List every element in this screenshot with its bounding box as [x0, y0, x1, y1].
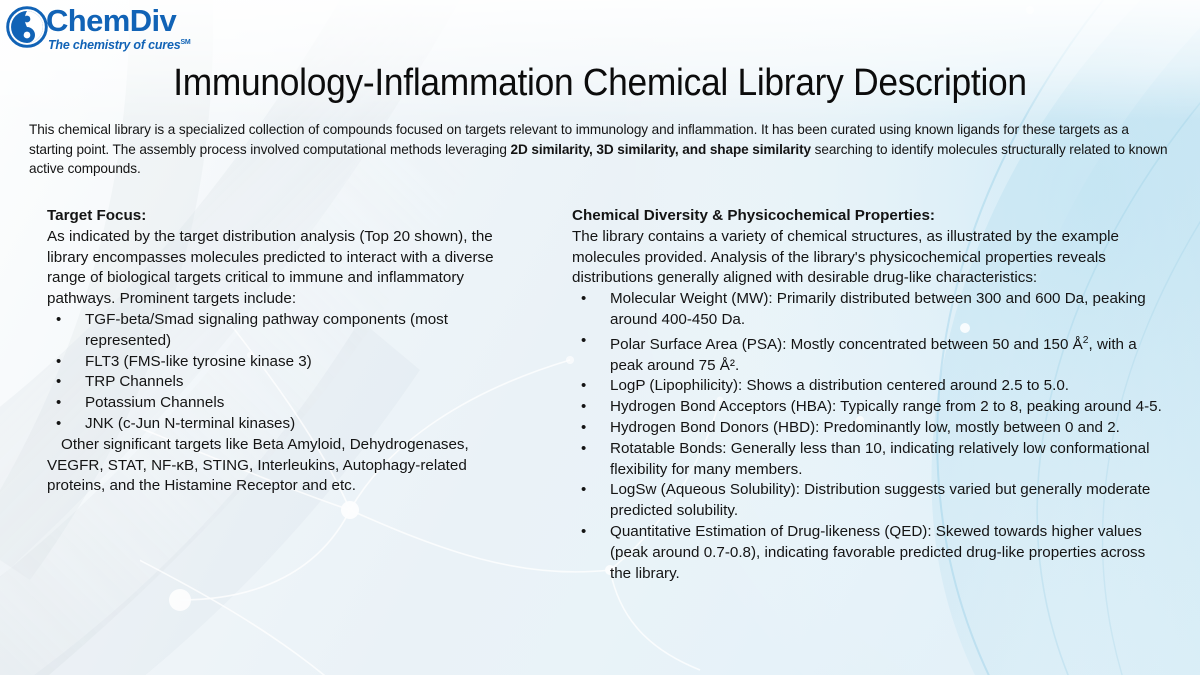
brand-name: ChemDiv	[46, 4, 176, 38]
bullet-text: Quantitative Estimation of Drug-likeness…	[610, 523, 1145, 582]
list-item: LogP (Lipophilicity): Shows a distributi…	[572, 376, 1168, 397]
list-item: TGF-beta/Smad signaling pathway componen…	[47, 310, 525, 352]
bullet-text: Molecular Weight (MW): Primarily distrib…	[610, 290, 1146, 328]
target-focus-column: Target Focus: As indicated by the target…	[47, 206, 525, 497]
brand-tagline: The chemistry of curesSM	[48, 38, 191, 52]
list-item: Polar Surface Area (PSA): Mostly concent…	[572, 331, 1168, 377]
bullet-text: Rotatable Bonds: Generally less than 10,…	[610, 440, 1149, 478]
bullet-text: Polar Surface Area (PSA): Mostly concent…	[610, 336, 1083, 353]
list-item: FLT3 (FMS-like tyrosine kinase 3)	[47, 352, 525, 373]
intro-bold-phrase: 2D similarity, 3D similarity, and shape …	[511, 142, 811, 157]
chemical-diversity-paragraph: The library contains a variety of chemic…	[572, 227, 1168, 289]
chemdiv-circle-logo-icon	[6, 6, 48, 48]
bullet-text: Hydrogen Bond Acceptors (HBA): Typically…	[610, 398, 1162, 415]
list-item: Quantitative Estimation of Drug-likeness…	[572, 522, 1168, 584]
list-item: Molecular Weight (MW): Primarily distrib…	[572, 289, 1168, 331]
bullet-text: TRP Channels	[85, 373, 184, 390]
list-item: TRP Channels	[47, 372, 525, 393]
physicochemical-bullet-list: Molecular Weight (MW): Primarily distrib…	[572, 289, 1168, 584]
intro-paragraph: This chemical library is a specialized c…	[29, 120, 1174, 179]
bullet-text: Hydrogen Bond Donors (HBD): Predominantl…	[610, 419, 1120, 436]
page-title: Immunology-Inflammation Chemical Library…	[42, 62, 1158, 105]
target-focus-heading: Target Focus:	[47, 206, 525, 227]
list-item: Hydrogen Bond Acceptors (HBA): Typically…	[572, 397, 1168, 418]
list-item: Hydrogen Bond Donors (HBD): Predominantl…	[572, 418, 1168, 439]
list-item: LogSw (Aqueous Solubility): Distribution…	[572, 480, 1168, 522]
bullet-text: JNK (c-Jun N-terminal kinases)	[85, 415, 295, 432]
chemical-diversity-column: Chemical Diversity & Physicochemical Pro…	[572, 206, 1168, 584]
bullet-text: Potassium Channels	[85, 394, 224, 411]
target-focus-closing: Other significant targets like Beta Amyl…	[47, 435, 525, 497]
list-item: JNK (c-Jun N-terminal kinases)	[47, 414, 525, 435]
bullet-text: LogP (Lipophilicity): Shows a distributi…	[610, 377, 1069, 394]
slide-canvas: ChemDiv The chemistry of curesSM Immunol…	[0, 0, 1200, 675]
list-item: Potassium Channels	[47, 393, 525, 414]
chemical-diversity-heading: Chemical Diversity & Physicochemical Pro…	[572, 206, 1168, 227]
bullet-text: LogSw (Aqueous Solubility): Distribution…	[610, 481, 1150, 519]
bullet-text: TGF-beta/Smad signaling pathway componen…	[85, 311, 448, 349]
list-item: Rotatable Bonds: Generally less than 10,…	[572, 439, 1168, 481]
target-focus-bullet-list: TGF-beta/Smad signaling pathway componen…	[47, 310, 525, 435]
bullet-text: FLT3 (FMS-like tyrosine kinase 3)	[85, 353, 312, 370]
brand-tagline-text: The chemistry of cures	[48, 38, 180, 52]
target-focus-paragraph: As indicated by the target distribution …	[47, 227, 525, 310]
chemdiv-logo: ChemDiv The chemistry of curesSM	[6, 4, 216, 56]
brand-tagline-sup: SM	[180, 39, 190, 46]
